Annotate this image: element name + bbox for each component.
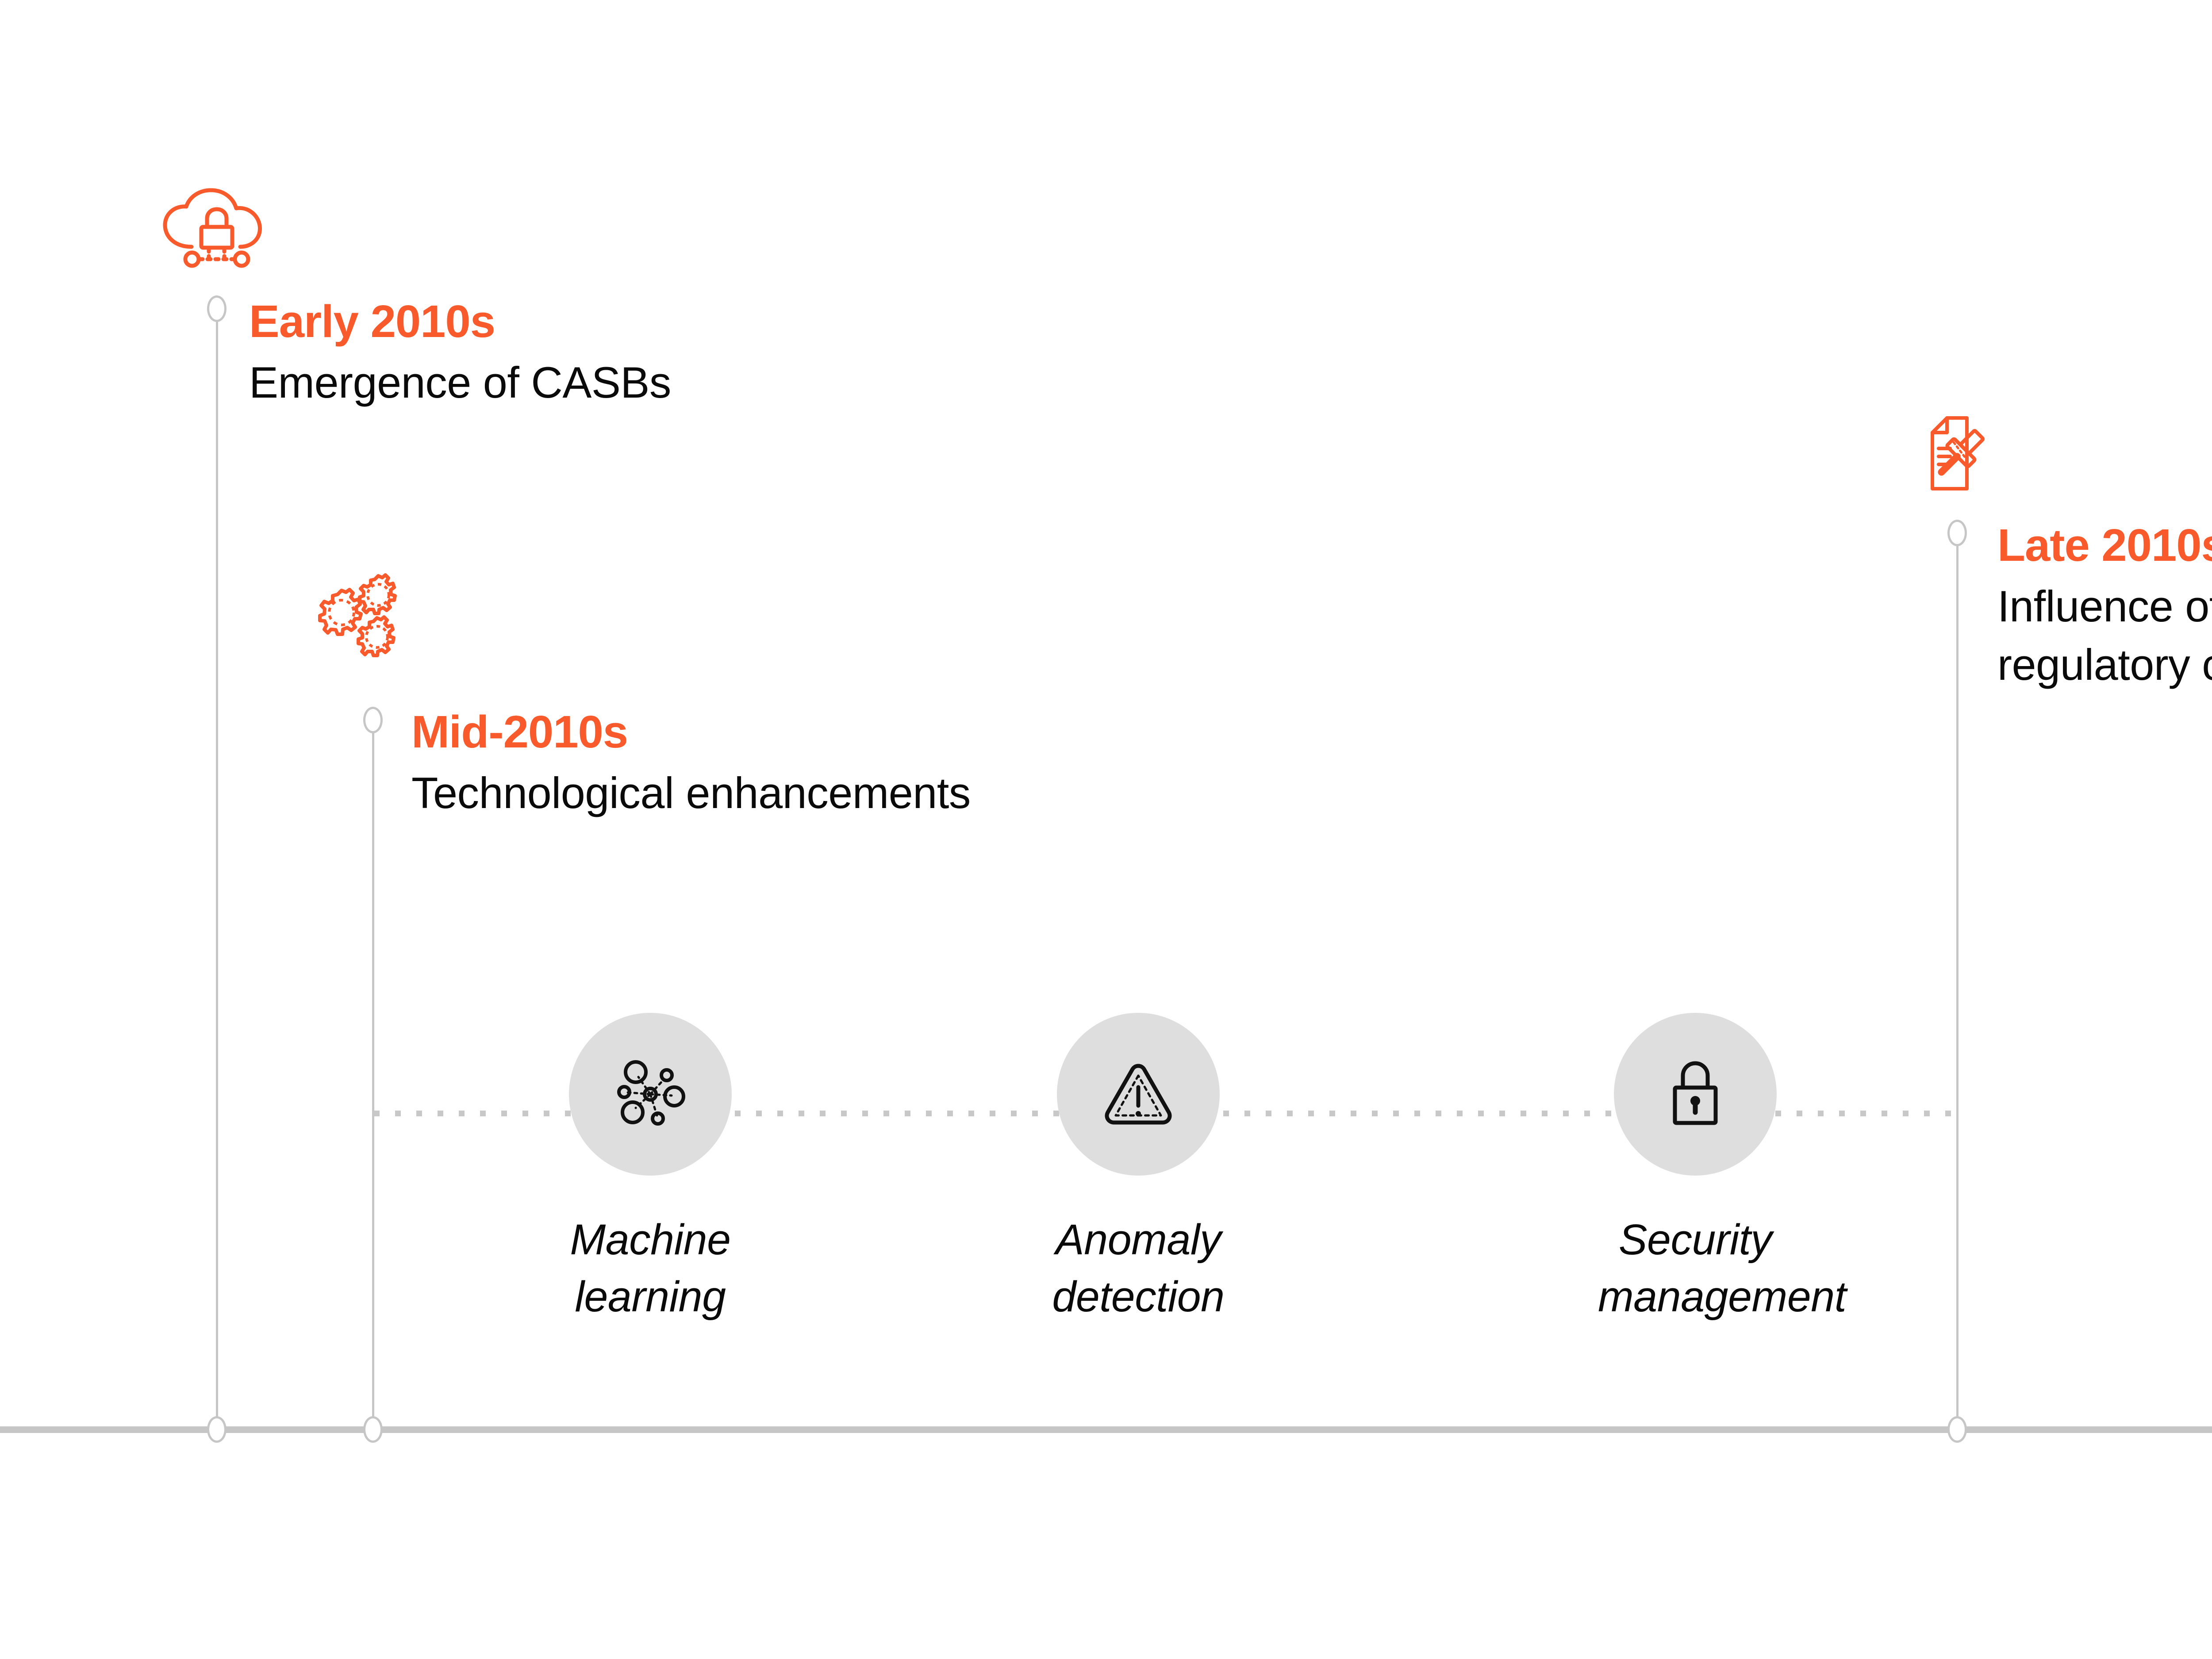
timeline-base-dot-mid-2010s (363, 1416, 383, 1443)
milestone-year-label: Early 2010s (249, 297, 671, 345)
sub-item-bubble (569, 1013, 732, 1176)
sub-item-label: Anomaly detection (1041, 1211, 1236, 1325)
network-nodes-icon (613, 1057, 688, 1132)
timeline-stem-dot-early-2010s (207, 295, 227, 322)
infographic-canvas: The history of CASB (0, 0, 2212, 1659)
milestone-year-label: Mid-2010s (411, 708, 971, 756)
timeline-stem-late-2010s (1956, 533, 1959, 1426)
timeline-base-dot-late-2010s (1947, 1416, 1967, 1443)
sub-item-bubble (1057, 1013, 1220, 1176)
milestone-description: Emergence of CASBs (249, 353, 671, 412)
milestone-late-2010s: Late 2010s Influence of regulatory chang… (1997, 521, 2212, 693)
warning-triangle-icon (1101, 1059, 1176, 1130)
sub-item-label: Security management (1598, 1211, 1793, 1325)
timeline-stem-early-2010s (216, 310, 218, 1426)
document-gavel-icon (1923, 411, 2005, 498)
timeline-stem-dot-late-2010s (1947, 520, 1967, 546)
milestone-description: Influence of regulatory changes (1997, 577, 2212, 693)
title-line-2: of CASB (2097, 149, 2212, 236)
timeline-stem-mid-2010s (372, 721, 374, 1426)
sub-item-machine-learning: Machine learning (553, 1013, 748, 1325)
milestone-early-2010s: Early 2010s Emergence of CASBs (249, 297, 671, 412)
sub-item-bubble (1614, 1013, 1777, 1176)
page-title: The history of CASB (2097, 62, 2212, 271)
padlock-icon (1664, 1057, 1726, 1132)
sub-item-security-management: Security management (1598, 1013, 1793, 1325)
timeline-base-dot-early-2010s (207, 1416, 227, 1443)
title-line-1: The history (2097, 62, 2212, 149)
sub-item-anomaly-detection: Anomaly detection (1041, 1013, 1236, 1325)
milestone-description: Technological enhancements (411, 764, 971, 822)
timeline-baseline (0, 1426, 2212, 1433)
milestone-mid-2010s: Mid-2010s Technological enhancements (411, 708, 971, 822)
timeline-stem-dot-mid-2010s (363, 707, 383, 733)
sub-item-label: Machine learning (553, 1211, 748, 1325)
milestone-year-label: Late 2010s (1997, 521, 2212, 569)
cloud-lock-icon (157, 188, 276, 283)
gears-icon (315, 571, 412, 661)
